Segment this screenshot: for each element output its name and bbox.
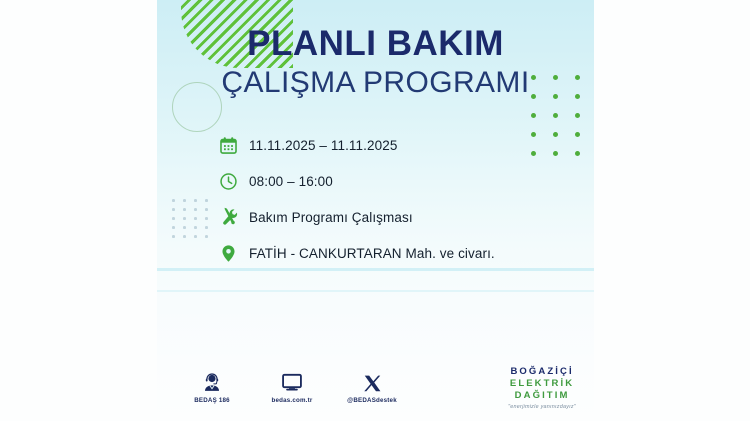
- background-band-lower: [157, 290, 594, 292]
- clock-icon: [219, 168, 249, 194]
- footer-contact-links: BEDAŞ 186 bedas.com.tr: [183, 371, 401, 404]
- footer-item-phone[interactable]: BEDAŞ 186: [183, 371, 241, 404]
- footer-label-website: bedas.com.tr: [272, 397, 313, 404]
- dot-grid-left-decoration: [172, 199, 216, 244]
- monitor-icon: [281, 371, 303, 393]
- poster-canvas: PLANLI BAKIM ÇALIŞMA PROGRAMI: [0, 0, 750, 421]
- info-text-work-type: Bakım Programı Çalışması: [249, 210, 413, 225]
- maintenance-info-list: 11.11.2025 – 11.11.2025 08:00 – 16:00: [219, 128, 579, 272]
- brand-tagline: "enerjimizle yanınızdayız": [508, 404, 576, 410]
- footer-item-website[interactable]: bedas.com.tr: [263, 371, 321, 404]
- info-text-time: 08:00 – 16:00: [249, 174, 333, 189]
- title-sub-line: ÇALIŞMA PROGRAMI: [157, 66, 594, 99]
- planned-maintenance-card: PLANLI BAKIM ÇALIŞMA PROGRAMI: [157, 0, 594, 421]
- footer-label-phone: BEDAŞ 186: [194, 397, 230, 404]
- info-row-date: 11.11.2025 – 11.11.2025: [219, 128, 579, 162]
- info-row-location: FATİH - CANKURTARAN Mah. ve civarı.: [219, 236, 579, 270]
- footer-label-social: @BEDASdestek: [347, 397, 397, 404]
- info-row-work-type: Bakım Programı Çalışması: [219, 200, 579, 234]
- brand-line-3: DAĞITIM: [508, 390, 576, 402]
- poster-title: PLANLI BAKIM ÇALIŞMA PROGRAMI: [157, 26, 594, 99]
- title-main-line: PLANLI BAKIM: [157, 26, 594, 63]
- location-pin-icon: [219, 240, 249, 266]
- calendar-icon: [219, 132, 249, 158]
- info-text-date: 11.11.2025 – 11.11.2025: [249, 138, 397, 153]
- info-text-location: FATİH - CANKURTARAN Mah. ve civarı.: [249, 246, 495, 261]
- footer-item-social[interactable]: @BEDASdestek: [343, 371, 401, 404]
- brand-line-2: ELEKTRİK: [508, 378, 576, 390]
- bedas-brand-logo: BOĞAZİÇİ ELEKTRİK DAĞITIM "enerjimizle y…: [508, 366, 576, 410]
- call-center-agent-icon: [202, 371, 222, 393]
- info-row-time: 08:00 – 16:00: [219, 164, 579, 198]
- x-twitter-icon: [363, 371, 382, 393]
- brand-line-1: BOĞAZİÇİ: [508, 366, 576, 378]
- tools-icon: [219, 204, 249, 230]
